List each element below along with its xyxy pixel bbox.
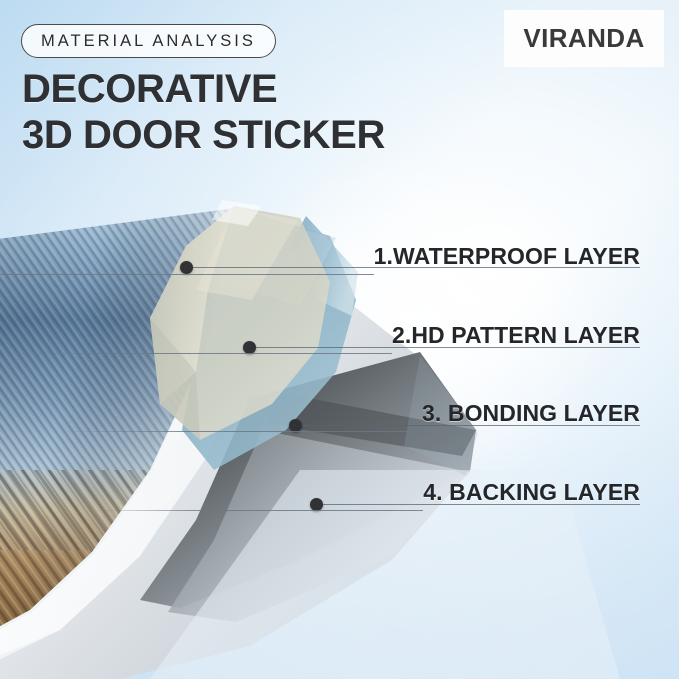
page-title: DECORATIVE 3D DOOR STICKER	[22, 66, 462, 158]
callout-label-1: 1.WATERPROOF LAYER	[374, 243, 640, 269]
material-analysis-badge: MATERIAL ANALYSIS	[21, 24, 276, 58]
title-line-2: 3D DOOR STICKER	[22, 112, 462, 158]
title-line-1: DECORATIVE	[22, 66, 462, 112]
callout-label-3: 3. BONDING LAYER	[422, 400, 640, 426]
badge-label: MATERIAL ANALYSIS	[41, 32, 256, 51]
callout-rule-3	[62, 431, 422, 432]
callout-label-4: 4. BACKING LAYER	[423, 479, 640, 505]
callout-rule-2	[0, 353, 392, 354]
callout-label-2: 2.HD PATTERN LAYER	[392, 322, 640, 348]
material-analysis-infographic: MATERIAL ANALYSIS DECORATIVE 3D DOOR STI…	[0, 0, 679, 679]
brand-logo: VIRANDA	[505, 11, 663, 66]
callout-2: 2.HD PATTERN LAYER	[392, 322, 640, 354]
callout-4: 4. BACKING LAYER	[423, 479, 640, 511]
callout-3: 3. BONDING LAYER	[422, 400, 640, 432]
callout-rule-1	[0, 274, 374, 275]
brand-logo-text: VIRANDA	[523, 23, 644, 54]
callout-1: 1.WATERPROOF LAYER	[374, 243, 640, 275]
callout-rule-4	[93, 510, 423, 511]
callout-dot-1	[180, 261, 193, 274]
